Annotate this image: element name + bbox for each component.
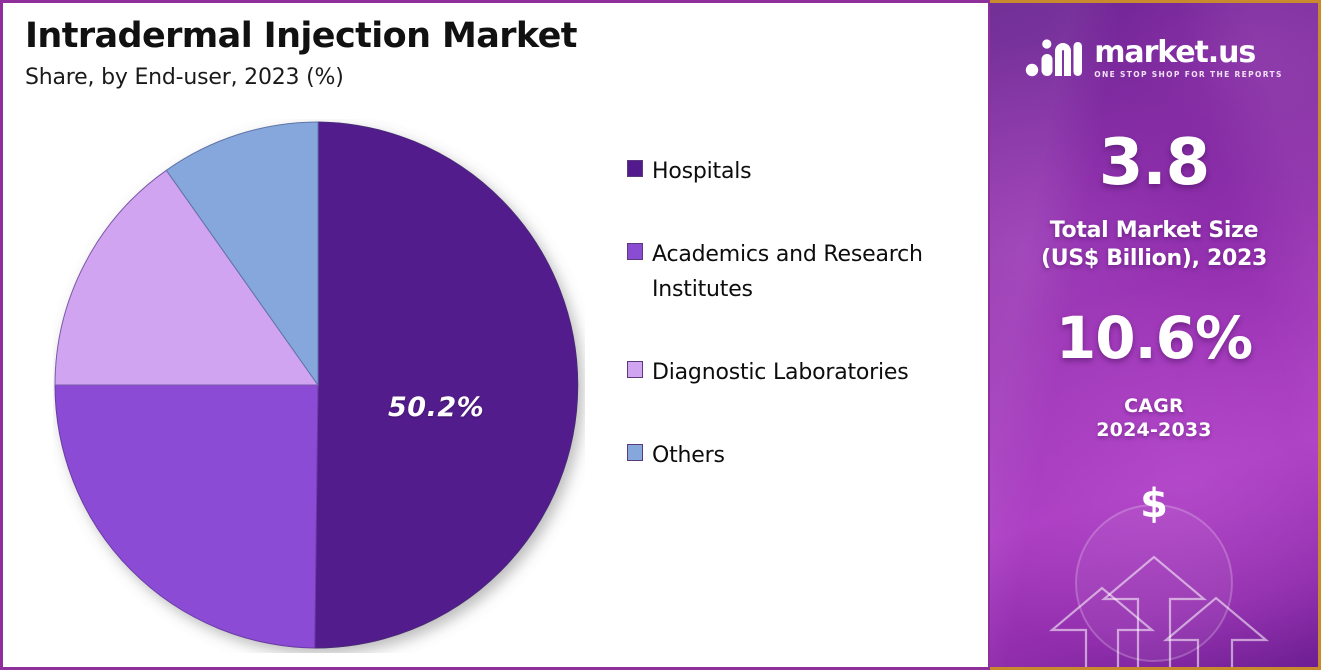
circle-outline-icon [1076,505,1232,661]
pie-chart [53,119,585,653]
brand-logo[interactable]: market.us ONE STOP SHOP FOR THE REPORTS [990,37,1318,79]
cagr-caption: CAGR 2024-2033 [990,395,1318,443]
currency-symbol-icon: $ [1140,481,1168,527]
pie-slice-hospitals [315,122,578,648]
cagr-caption-line1: CAGR [990,395,1318,419]
legend-label: Hospitals [652,155,751,189]
title-block: Intradermal Injection Market Share, by E… [25,17,577,90]
legend-item-academics-and-research-institutes[interactable]: Academics and Research Institutes [627,238,967,307]
infographic-root: Intradermal Injection Market Share, by E… [0,0,1321,670]
stat-panel: $ market.us ONE STOP SHOP FOR THE REPORT… [990,0,1321,670]
legend-label: Academics and Research Institutes [652,238,967,307]
logo-text-block: market.us ONE STOP SHOP FOR THE REPORTS [1094,38,1282,79]
legend-item-diagnostic-laboratories[interactable]: Diagnostic Laboratories [627,356,967,390]
legend: Hospitals Academics and Research Institu… [627,155,967,474]
cagr-caption-line2: 2024-2033 [990,419,1318,443]
legend-label: Others [652,439,725,473]
legend-label: Diagnostic Laboratories [652,356,909,390]
legend-item-hospitals[interactable]: Hospitals [627,155,967,189]
market-us-bars-icon [1025,37,1083,79]
chart-panel: Intradermal Injection Market Share, by E… [0,0,990,670]
chart-subtitle: Share, by End-user, 2023 (%) [25,65,577,90]
pie-slice-academics-and-research-institutes [55,385,318,648]
market-size-caption-line1: Total Market Size [990,217,1318,245]
legend-swatch-icon [627,160,643,177]
legend-swatch-icon [627,361,643,378]
market-size-caption: Total Market Size (US$ Billion), 2023 [990,217,1318,272]
growth-arrows-icon [1052,557,1266,670]
page-title: Intradermal Injection Market [25,17,577,56]
market-size-caption-line2: (US$ Billion), 2023 [990,245,1318,273]
legend-swatch-icon [627,444,643,461]
logo-name: market.us [1094,38,1282,68]
cagr-value: 10.6% [990,309,1318,367]
legend-item-others[interactable]: Others [627,439,967,473]
market-size-value: 3.8 [990,131,1318,195]
logo-tagline: ONE STOP SHOP FOR THE REPORTS [1094,71,1282,79]
legend-swatch-icon [627,243,643,260]
